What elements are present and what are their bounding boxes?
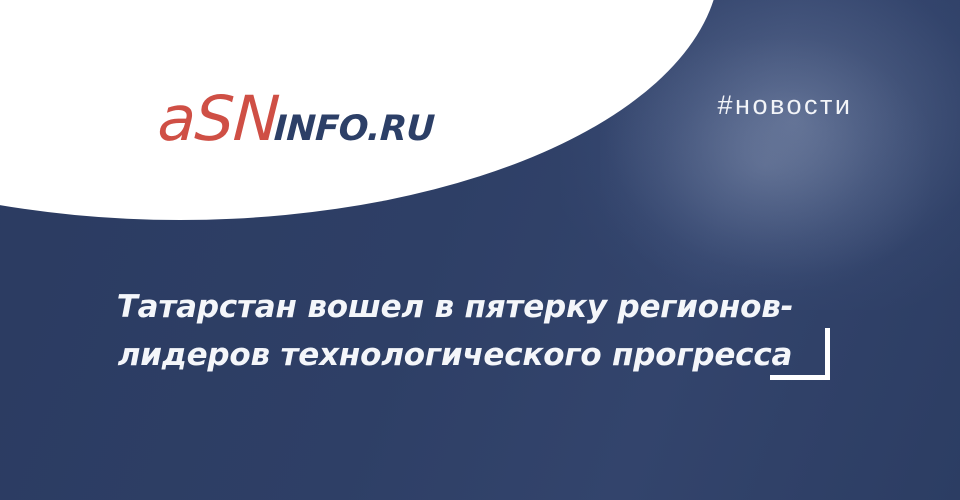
headline-line-2: лидеров технологического прогресса [60,331,850,379]
headline-line-1: Татарстан вошел в пятерку регионов- [60,283,850,331]
logo-primary-text: aSN [156,88,280,150]
news-card: aSN INFO.RU #новости Татарстан вошел в п… [0,0,960,500]
logo-secondary-text: INFO.RU [273,112,435,147]
hashtag-label: #новости [640,90,930,121]
headline: Татарстан вошел в пятерку регионов- лиде… [60,283,850,379]
asn-info-logo[interactable]: aSN INFO.RU [158,88,434,152]
